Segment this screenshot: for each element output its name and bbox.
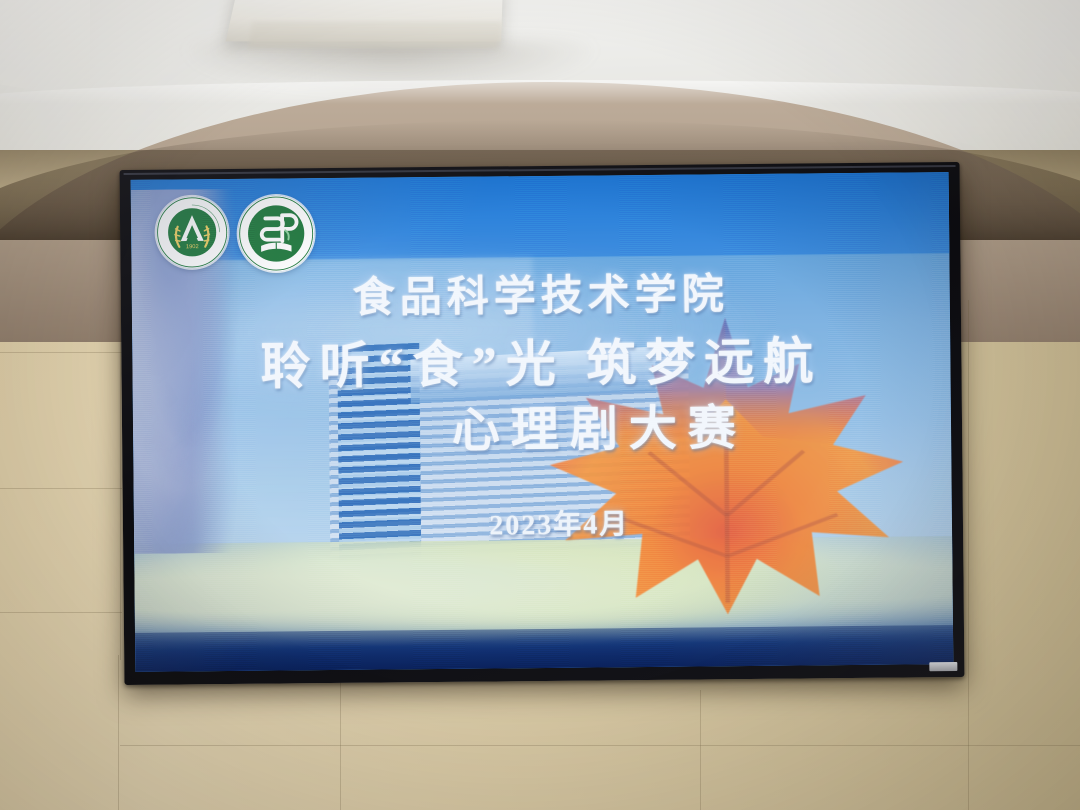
slide-org-line: 食品科学技术学院 bbox=[131, 258, 950, 327]
wall-seam bbox=[0, 488, 122, 489]
wall-seam bbox=[120, 745, 1080, 746]
bezel-brand-label bbox=[929, 662, 957, 671]
wall-seam bbox=[968, 300, 969, 810]
ceiling-soffit-underside bbox=[248, 22, 502, 48]
wall-seam bbox=[0, 612, 122, 613]
photo-scene: 1902 食 bbox=[0, 0, 1080, 810]
slide-text-block: 食品科学技术学院 聆听“食”光 筑梦远航 心理剧大赛 2023年4月 bbox=[131, 172, 954, 672]
screen-panel[interactable]: 1902 食 bbox=[131, 172, 954, 672]
wall-seam bbox=[0, 352, 122, 353]
wall-seam bbox=[340, 678, 341, 810]
wall-seam bbox=[700, 690, 701, 810]
wall-seam bbox=[118, 655, 119, 810]
slide-date-line: 2023年4月 bbox=[134, 499, 954, 547]
ceiling-panel-left bbox=[0, 0, 90, 99]
slide-event-line: 心理剧大赛 bbox=[133, 386, 954, 464]
led-display[interactable]: 1902 食 bbox=[120, 162, 965, 685]
